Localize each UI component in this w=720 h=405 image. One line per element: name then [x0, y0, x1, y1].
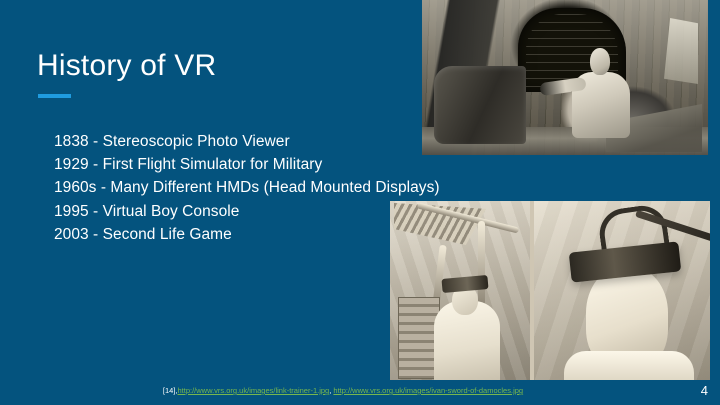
title-accent-rule — [38, 94, 71, 98]
page-number: 4 — [701, 383, 708, 399]
citation-reference: [14], — [163, 386, 178, 395]
photo-hmd-headset — [569, 241, 682, 282]
sword-of-damocles-photo — [390, 201, 710, 380]
photo-person-body — [564, 351, 694, 380]
photo-window — [664, 18, 698, 84]
list-item: 1960s - Many Different HMDs (Head Mounte… — [54, 176, 524, 199]
photo-pilot-head — [590, 48, 610, 75]
slide-footer: [14],http://www.vrs.org.uk/images/link-t… — [0, 381, 720, 405]
photo-nose-cowl — [434, 66, 526, 144]
citation-separator: , — [329, 386, 331, 395]
photo-pipe — [478, 221, 485, 305]
citation-link-1[interactable]: http://www.vrs.org.uk/images/link-traine… — [178, 386, 330, 395]
citation-link-2[interactable]: http://www.vrs.org.uk/images/ivan-sword-… — [333, 386, 523, 395]
slide: History of VR 1838 - Stereoscopic Photo … — [0, 0, 720, 405]
damocles-left-panel — [390, 201, 530, 380]
page-title: History of VR — [37, 49, 216, 83]
damocles-right-panel — [534, 201, 710, 380]
list-item: 1929 - First Flight Simulator for Milita… — [54, 153, 524, 176]
link-trainer-photo — [422, 0, 708, 155]
citation: [14],http://www.vrs.org.uk/images/link-t… — [0, 386, 720, 396]
